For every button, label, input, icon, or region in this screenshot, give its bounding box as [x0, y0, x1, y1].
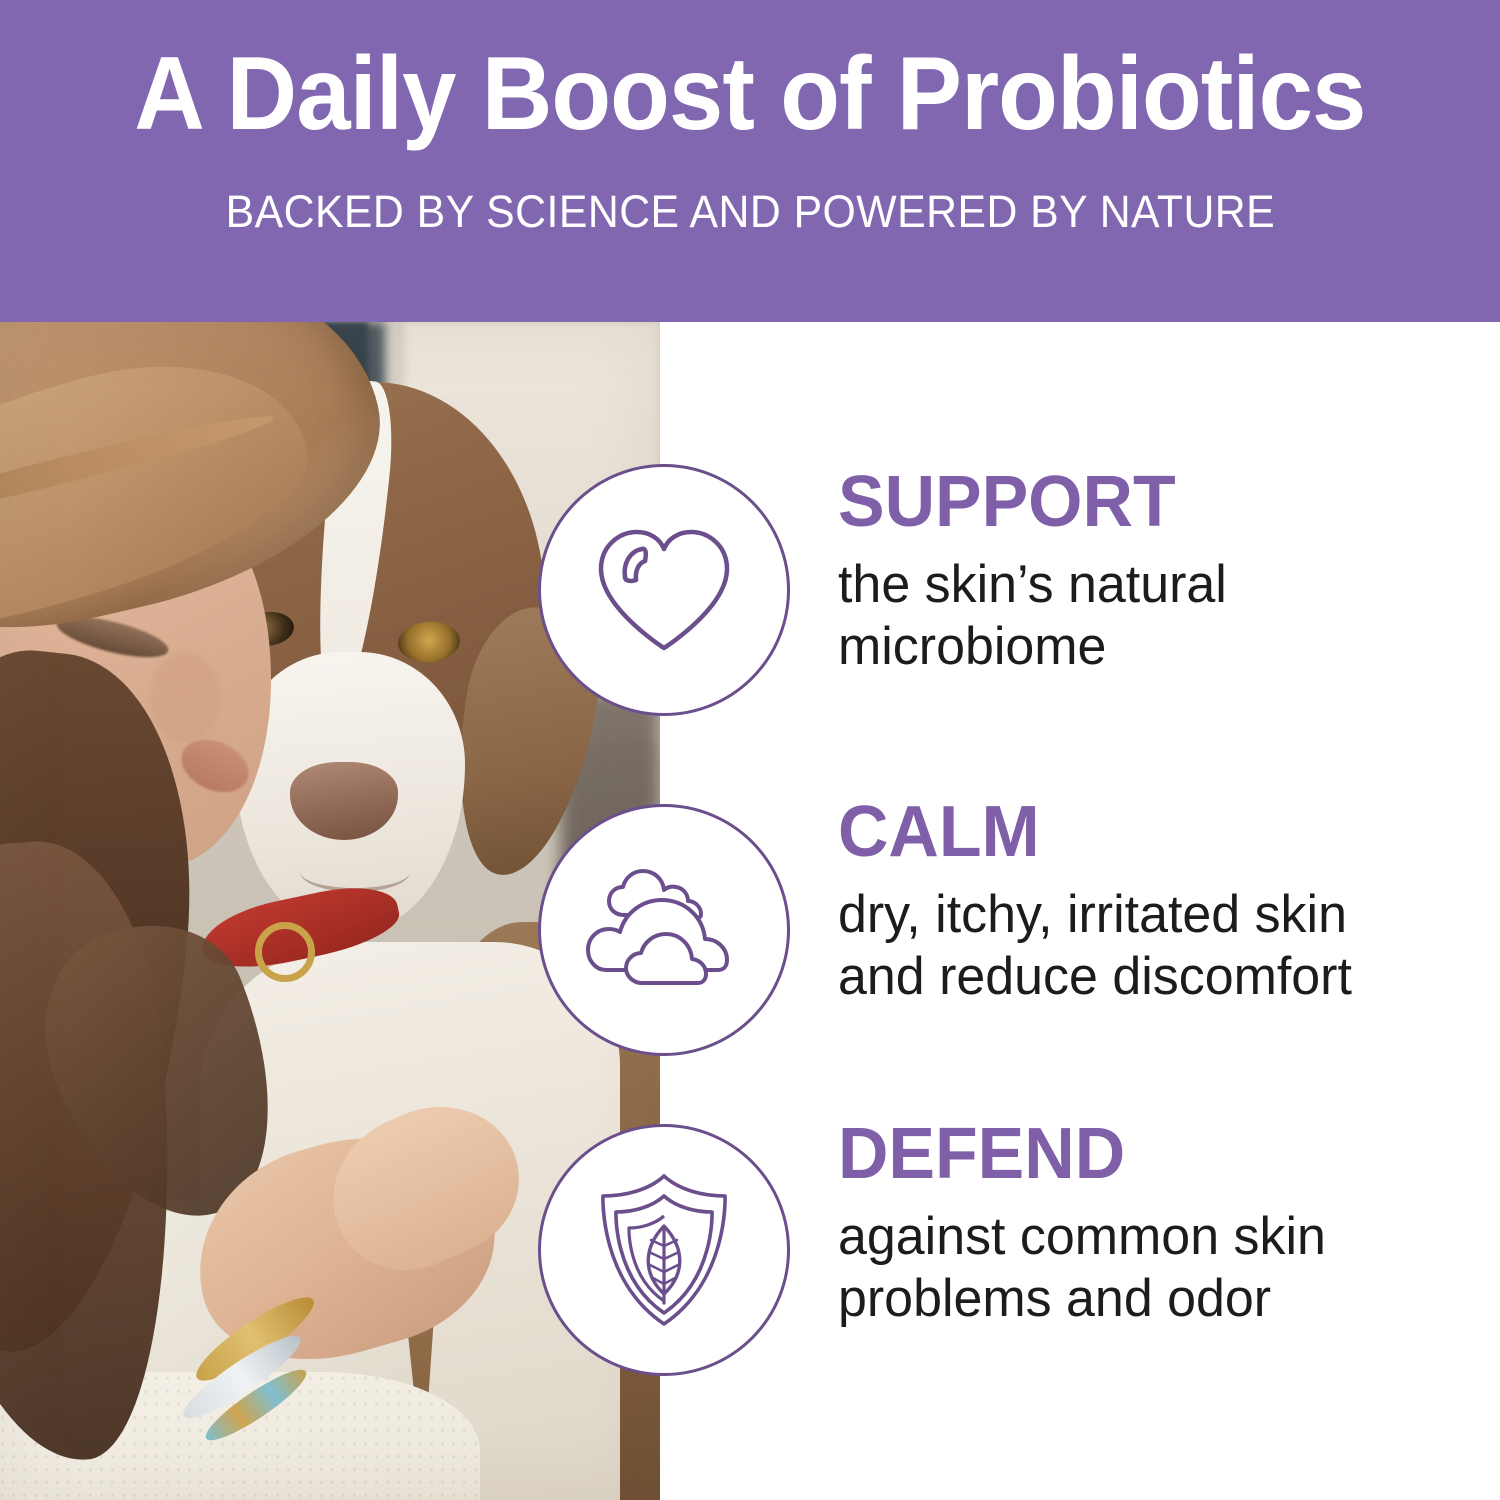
infographic-page: A Daily Boost of Probiotics BACKED BY SC… — [0, 0, 1500, 1500]
clouds-icon — [584, 865, 744, 995]
feature-calm: CALM dry, itchy, irritated skin and redu… — [838, 796, 1478, 1008]
feature-body-line: dry, itchy, irritated skin — [838, 884, 1465, 946]
feature-body-line: microbiome — [838, 616, 1465, 678]
feature-body-defend: against common skin problems and odor — [838, 1206, 1465, 1330]
heart-icon — [589, 520, 739, 660]
feature-body-calm: dry, itchy, irritated skin and reduce di… — [838, 884, 1465, 1008]
feature-body-line: and reduce discomfort — [838, 946, 1465, 1008]
feature-icon-circle-defend — [538, 1124, 790, 1376]
feature-body-line: problems and odor — [838, 1268, 1465, 1330]
feature-body-support: the skin’s natural microbiome — [838, 554, 1465, 678]
feature-support: SUPPORT the skin’s natural microbiome — [838, 466, 1478, 678]
feature-body-line: against common skin — [838, 1206, 1465, 1268]
header-banner: A Daily Boost of Probiotics BACKED BY SC… — [0, 0, 1500, 322]
page-title: A Daily Boost of Probiotics — [134, 42, 1365, 146]
shield-leaf-icon — [589, 1170, 739, 1330]
feature-title-calm: CALM — [838, 796, 1459, 868]
feature-icon-circle-calm — [538, 804, 790, 1056]
feature-icon-circle-support — [538, 464, 790, 716]
feature-body-line: the skin’s natural — [838, 554, 1465, 616]
feature-title-defend: DEFEND — [838, 1118, 1459, 1190]
feature-title-support: SUPPORT — [838, 466, 1459, 538]
feature-defend: DEFEND against common skin problems and … — [838, 1118, 1478, 1330]
page-subtitle: BACKED BY SCIENCE AND POWERED BY NATURE — [225, 186, 1275, 238]
